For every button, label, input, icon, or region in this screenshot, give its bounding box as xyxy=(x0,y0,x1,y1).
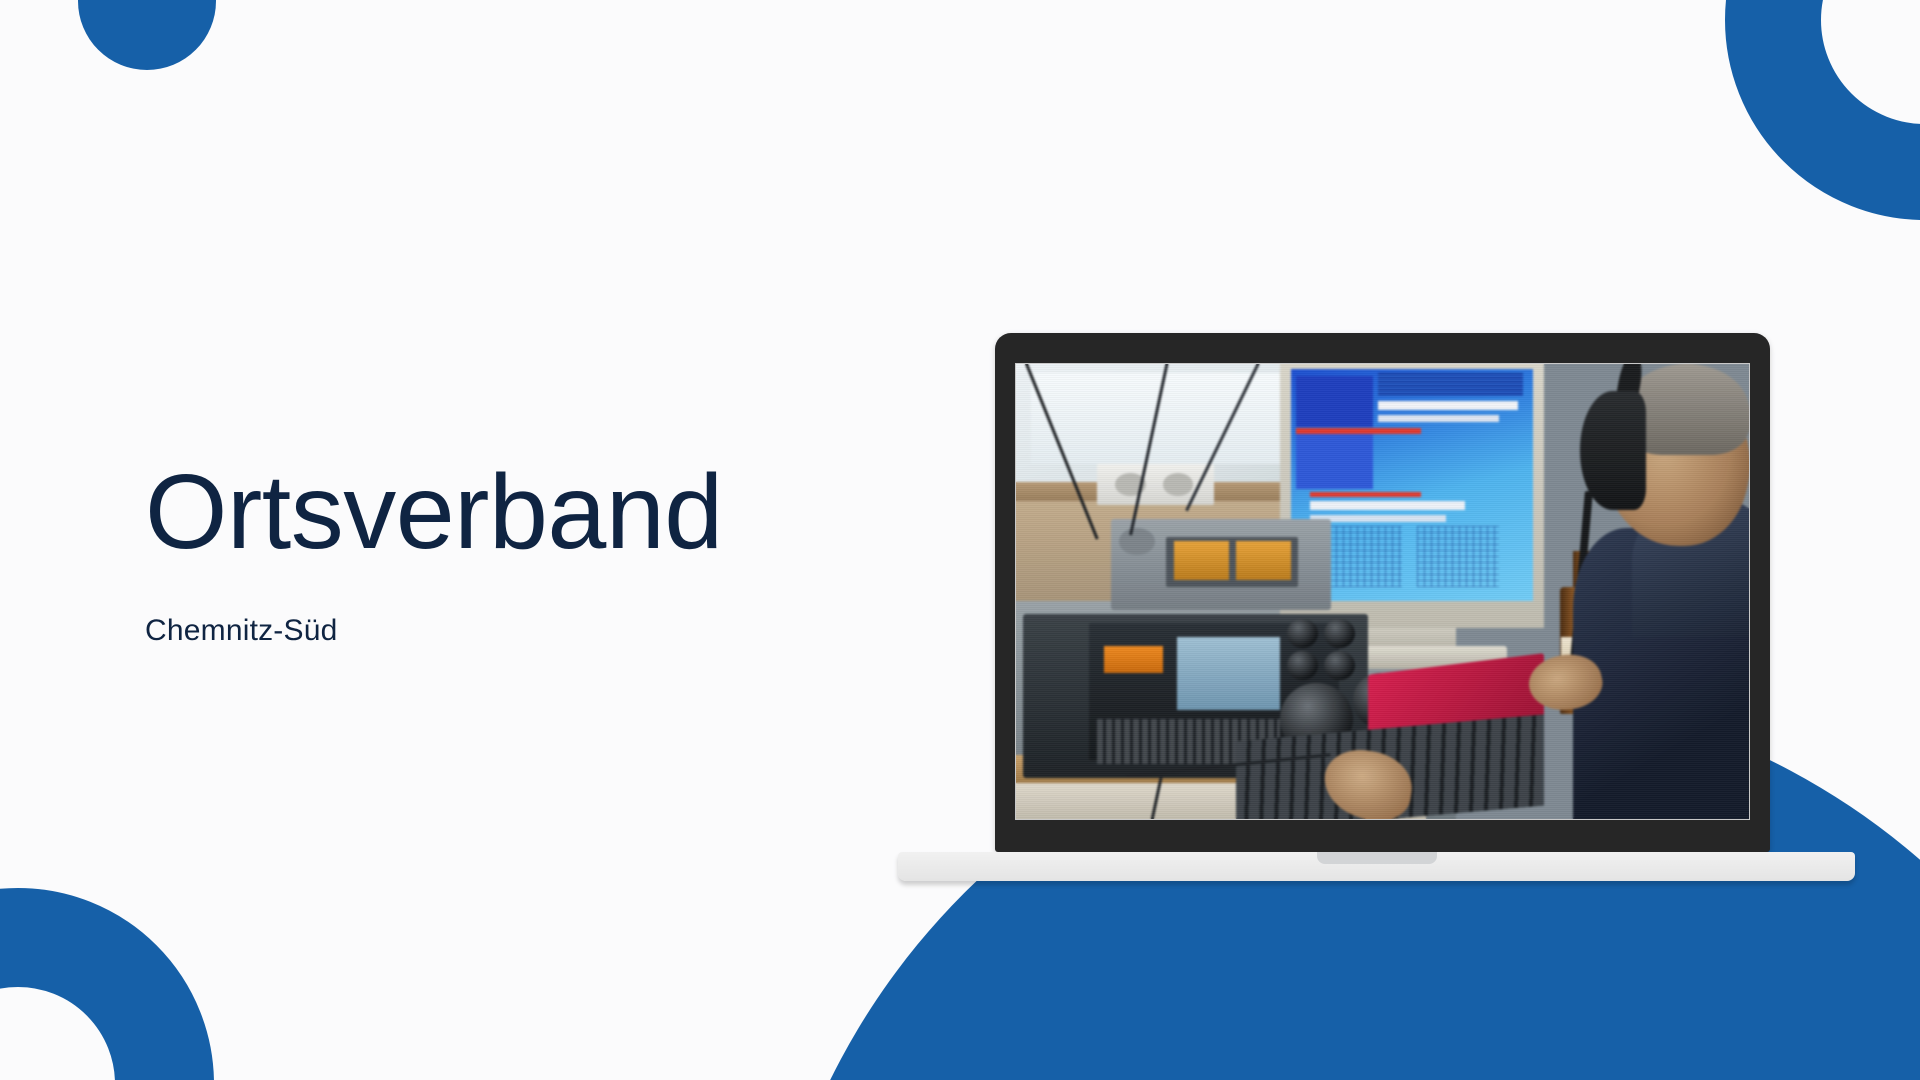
photo-monitor-red-bar-1 xyxy=(1296,428,1422,434)
photo-small-knob-2 xyxy=(1324,619,1355,649)
photo-small-knob-4 xyxy=(1324,651,1355,681)
page-subtitle: Chemnitz-Süd xyxy=(145,613,723,649)
photo-small-knob-3 xyxy=(1287,651,1318,681)
laptop-base-notch xyxy=(1317,852,1437,864)
title-block: Ortsverband Chemnitz-Süd xyxy=(145,455,723,649)
photo-monitor-log-grid-right xyxy=(1417,526,1499,586)
photo-socket-hole-right xyxy=(1163,473,1194,496)
bottom-left-ring-decoration xyxy=(0,888,214,1080)
photo-small-knob-1 xyxy=(1287,619,1318,649)
page-title: Ortsverband xyxy=(145,455,723,569)
photo-monitor-red-bar-2 xyxy=(1310,492,1421,498)
photo-monitor-window-a xyxy=(1296,376,1373,427)
photo-transceiver-lcd xyxy=(1177,637,1280,710)
photo-transceiver-frequency-display xyxy=(1104,646,1163,673)
top-right-ring-decoration xyxy=(1725,0,1920,220)
photo-monitor-titlebars xyxy=(1378,373,1523,396)
photo-receiver-display-left xyxy=(1174,541,1229,580)
laptop-lid xyxy=(995,333,1770,852)
photo-receiver-knob xyxy=(1119,528,1156,555)
photo-monitor-light-bar-2 xyxy=(1378,415,1499,422)
photo-monitor-light-bar-1 xyxy=(1378,401,1518,410)
photo-monitor-window-b xyxy=(1296,434,1373,490)
presentation-slide: Ortsverband Chemnitz-Süd xyxy=(0,0,1920,1080)
photo-receiver-display-right xyxy=(1236,541,1291,580)
photo-monitor-light-bar-3 xyxy=(1310,501,1465,510)
radio-station-photo xyxy=(1016,364,1749,819)
laptop-base xyxy=(898,852,1855,881)
photo-headphone-earcup xyxy=(1580,391,1646,509)
top-left-circle-decoration xyxy=(78,0,216,70)
laptop-screen xyxy=(1015,363,1750,820)
laptop-mockup xyxy=(898,333,1855,881)
